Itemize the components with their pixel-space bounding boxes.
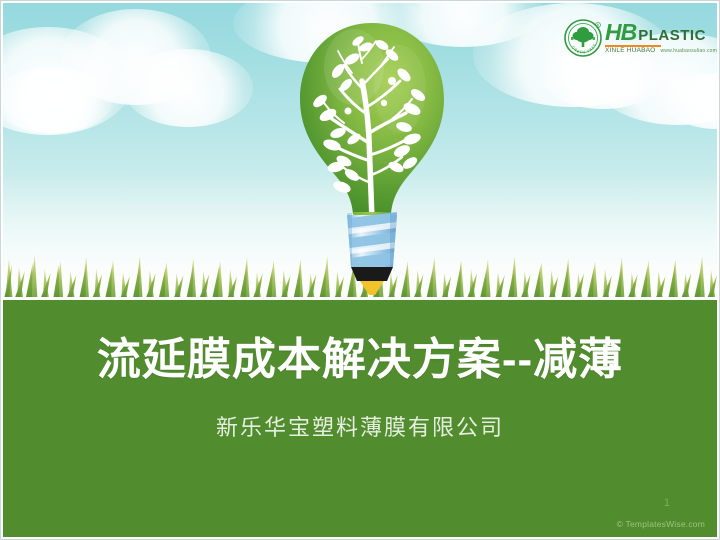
copyright-notice: © TemplatesWise.com bbox=[617, 519, 705, 529]
logo-brand-initials: HB bbox=[605, 21, 636, 44]
page-title: 流延膜成本解决方案--减薄 bbox=[3, 335, 717, 386]
logo-wordmark: HB PLASTIC XINLE HUABAO www.huabaosuliao… bbox=[605, 21, 717, 55]
logo-brand-suffix: PLASTIC bbox=[638, 28, 706, 43]
company-logo[interactable]: R GREEN TREE HB PLASTIC XINLE HUABAO www… bbox=[563, 14, 709, 62]
green-lightbulb-with-tree-icon bbox=[292, 15, 452, 297]
logo-website: www.huabaosuliao.com bbox=[660, 48, 717, 54]
page-subtitle: 新乐华宝塑料薄膜有限公司 bbox=[3, 410, 717, 442]
cloud-icon bbox=[61, 9, 211, 105]
cloud-icon bbox=[0, 27, 133, 135]
presentation-slide: 流延膜成本解决方案--减薄 新乐华宝塑料薄膜有限公司 bbox=[0, 0, 720, 540]
cloud-icon bbox=[123, 49, 253, 127]
green-tree-emblem-icon: R GREEN TREE bbox=[563, 18, 603, 58]
cloud-icon bbox=[663, 73, 720, 129]
page-number: 1 bbox=[664, 497, 670, 509]
logo-company-en: XINLE HUABAO bbox=[605, 47, 655, 54]
cloud-icon bbox=[0, 67, 113, 133]
horizon-separator bbox=[3, 297, 717, 300]
title-block: 流延膜成本解决方案--减薄 新乐华宝塑料薄膜有限公司 bbox=[3, 335, 717, 442]
